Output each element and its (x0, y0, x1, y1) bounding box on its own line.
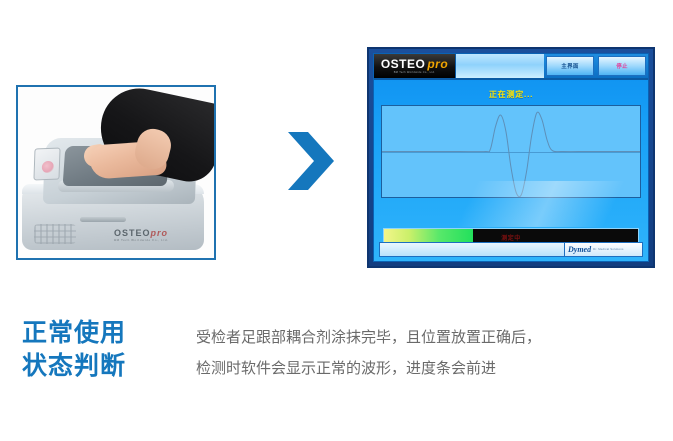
header-filler (456, 54, 544, 78)
screen-logo-pro: pro (427, 57, 448, 71)
device-brand-pro: pro (151, 228, 169, 238)
measurement-status-title: 正在测定... (381, 89, 641, 100)
caption-headline-line2: 状态判断 (22, 349, 187, 382)
device-brand-name: OSTEO (114, 228, 151, 238)
vendor-brand-tagline: Dr. Medical Solutions (593, 248, 623, 251)
vendor-brand-name: Dymed (568, 245, 591, 254)
flow-arrow (284, 130, 336, 192)
software-screen: OSTEOpro BM Tech Worldwide Co., Ltd. 主界面… (373, 53, 649, 262)
main-screen-button[interactable]: 主界面 (546, 56, 594, 76)
caption-headline: 正常使用 状态判断 (22, 316, 187, 382)
device-brand-tagline: BM Tech Worldwide Co., Ltd. (114, 238, 169, 242)
screen-logo-text: OSTEOpro (381, 58, 448, 70)
device-photo-panel: OSTEOpro BM Tech Worldwide Co., Ltd. (16, 85, 216, 260)
page-root: OSTEOpro BM Tech Worldwide Co., Ltd. OST… (0, 0, 673, 441)
device-brand-logo: OSTEOpro BM Tech Worldwide Co., Ltd. (114, 228, 169, 242)
caption-body-line2: 检测时软件会显示正常的波形，进度条会前进 (196, 353, 656, 384)
screen-header: OSTEOpro BM Tech Worldwide Co., Ltd. 主界面… (374, 54, 648, 80)
screen-body: 正在测定... 测定中 Dymed Dr. Medical (374, 80, 648, 261)
stop-button[interactable]: 停止 (598, 56, 646, 76)
status-message (380, 243, 564, 256)
screen-logo: OSTEOpro BM Tech Worldwide Co., Ltd. (374, 54, 456, 78)
screen-logo-osteo: OSTEO (381, 57, 426, 71)
waveform-chart (381, 105, 641, 198)
caption-headline-line1: 正常使用 (22, 316, 187, 349)
waveform-trace (382, 106, 640, 197)
device-handle (80, 217, 126, 222)
caption-body: 受检者足跟部耦合剂涂抹完毕，且位置放置正确后， 检测时软件会显示正常的波形，进度… (196, 322, 656, 384)
screen-status-bar: Dymed Dr. Medical Solutions (379, 242, 643, 257)
vendor-brand: Dymed Dr. Medical Solutions (564, 243, 642, 256)
device-photo: OSTEOpro BM Tech Worldwide Co., Ltd. (18, 87, 214, 258)
caption-body-line1: 受检者足跟部耦合剂涂抹完毕，且位置放置正确后， (196, 322, 656, 353)
chevron-right-icon (284, 130, 336, 192)
device-vent-grille (34, 224, 76, 244)
software-screen-frame: OSTEOpro BM Tech Worldwide Co., Ltd. 主界面… (367, 47, 655, 268)
screen-logo-tagline: BM Tech Worldwide Co., Ltd. (394, 71, 435, 74)
device-control-panel (33, 148, 60, 181)
